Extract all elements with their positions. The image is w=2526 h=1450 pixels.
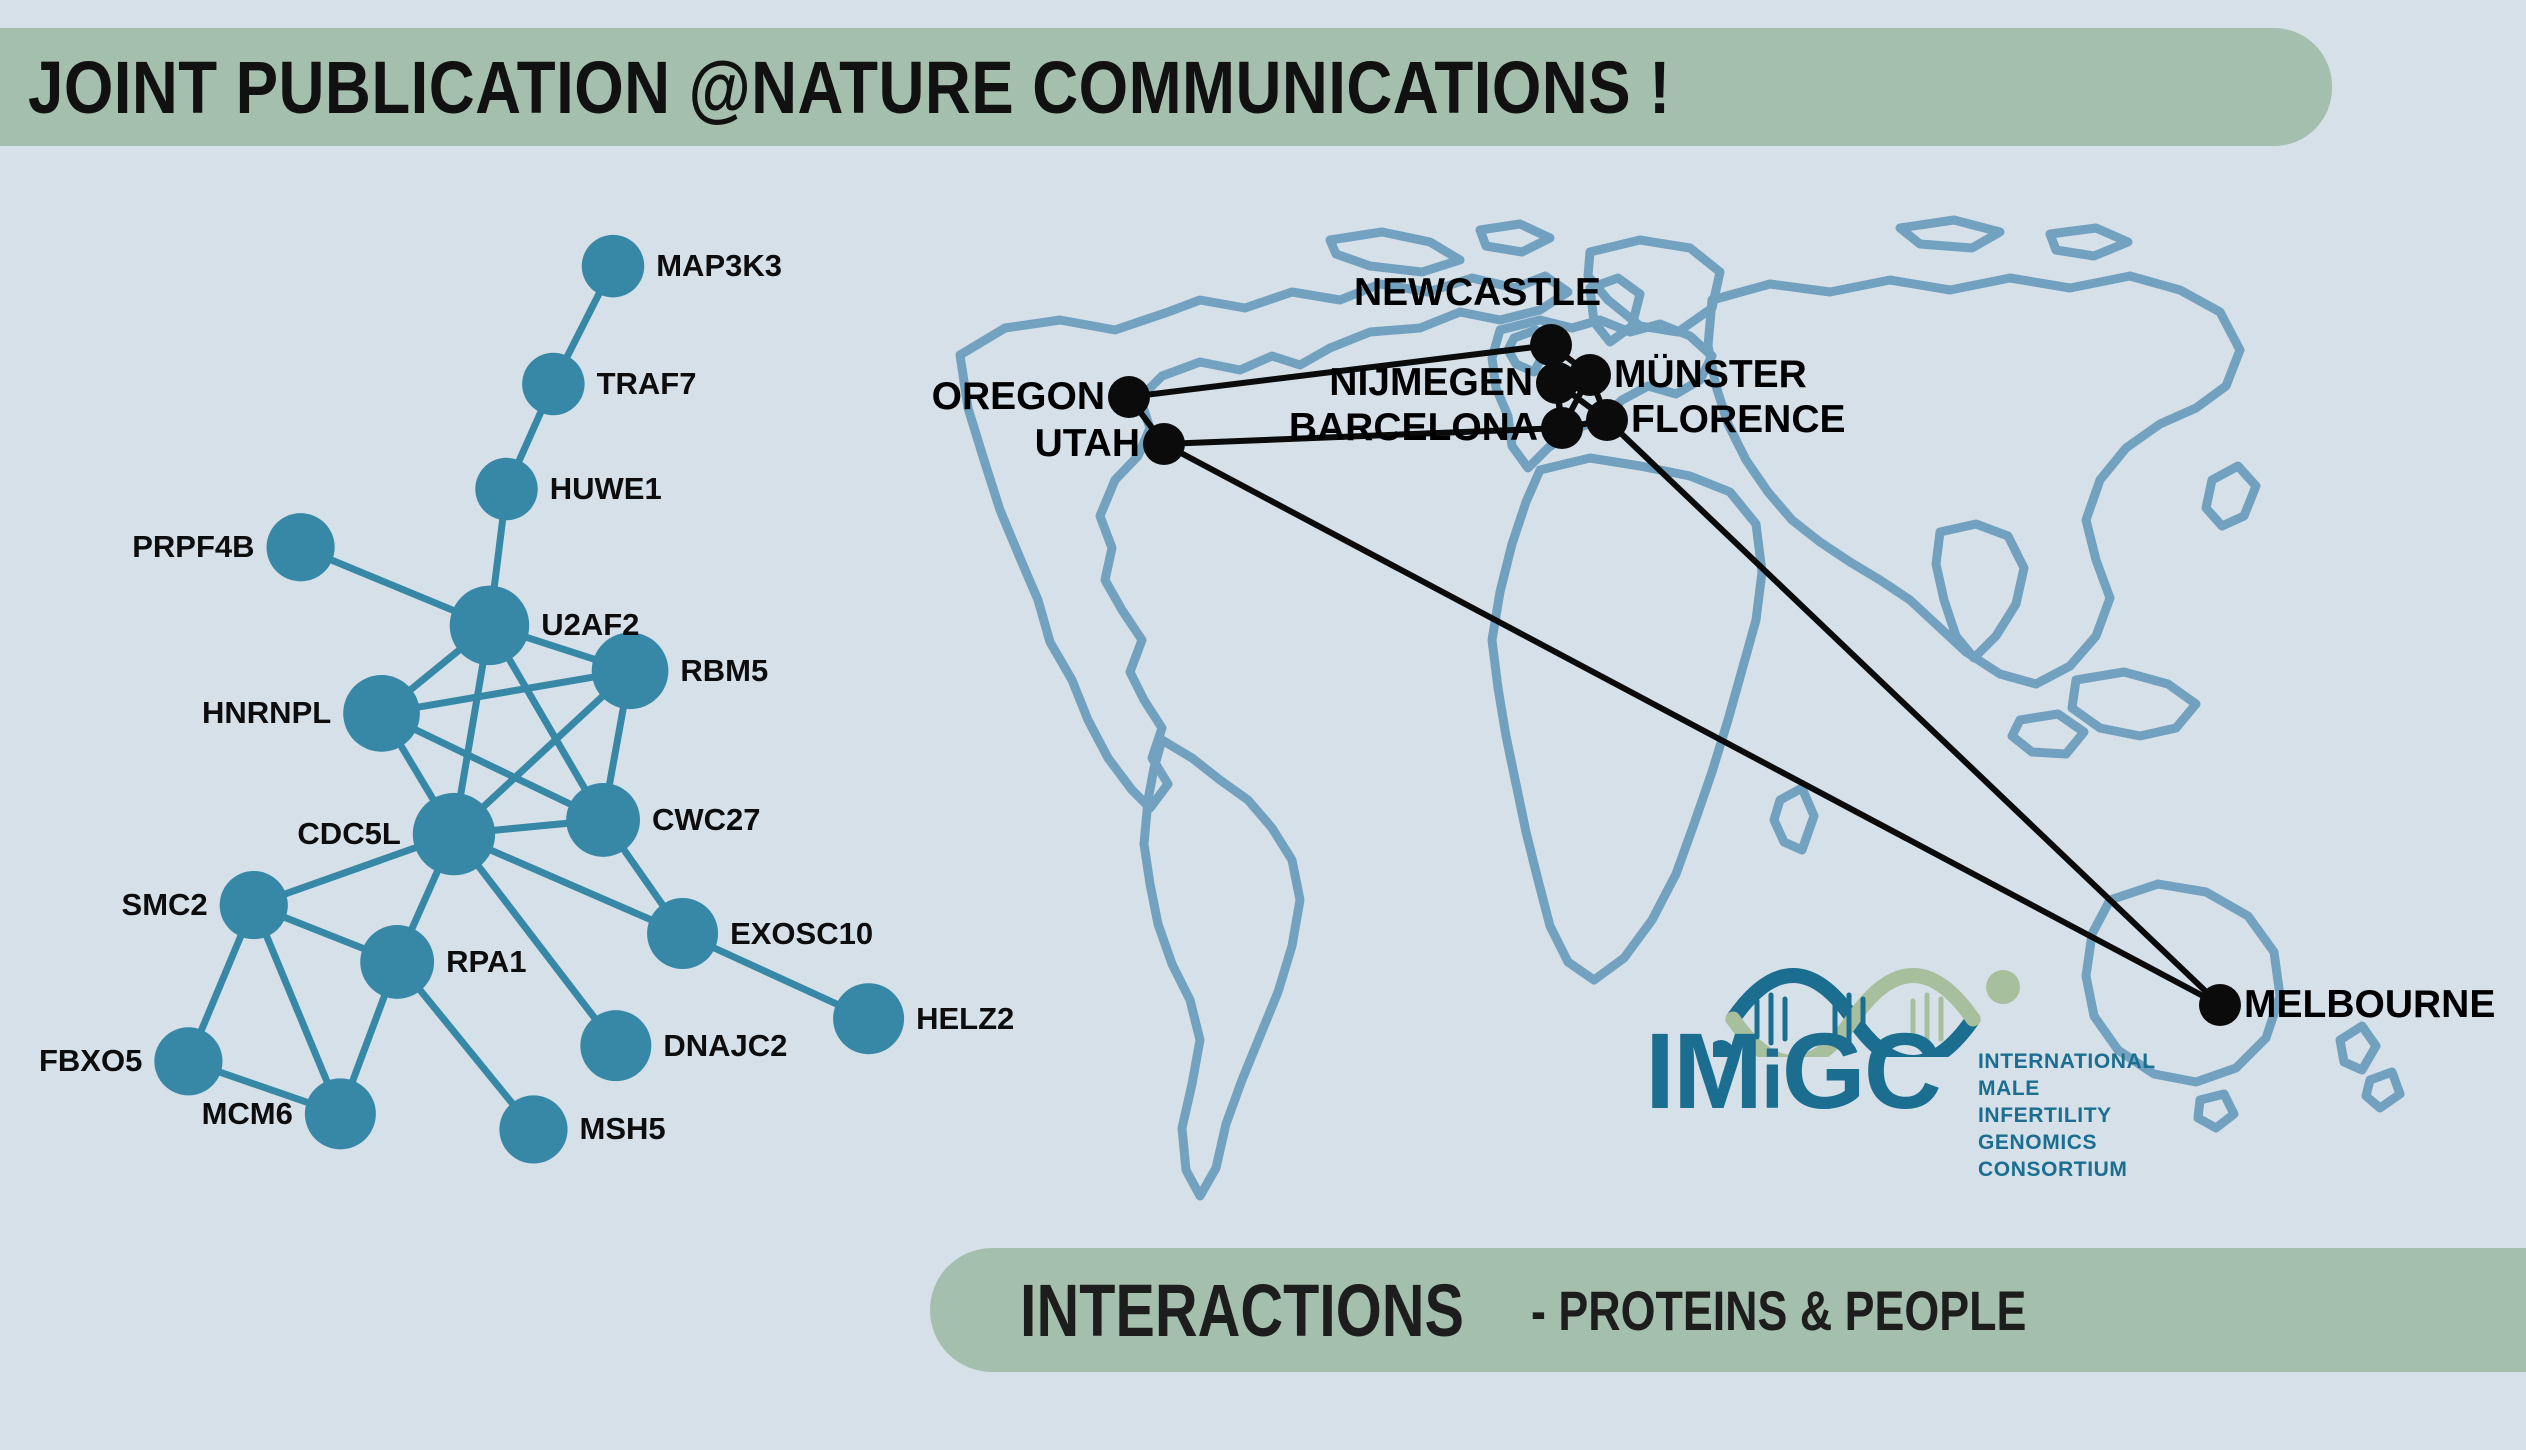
network-node-hnrnpl[interactable] — [343, 675, 420, 752]
network-node-dnajc2[interactable] — [580, 1010, 651, 1081]
protein-interaction-network: MAP3K3TRAF7HUWE1PRPF4BU2AF2RBM5HNRNPLCWC… — [0, 150, 960, 1445]
logo-tagline-line-3: GENOMICS — [1978, 1130, 2156, 1157]
network-node-fbxo5[interactable] — [154, 1027, 222, 1095]
poster-title: JOINT PUBLICATION @NATURE COMMUNICATIONS… — [28, 45, 1671, 130]
logo-wordmark-i: i — [1761, 1035, 1782, 1126]
city-dot-oregon[interactable] — [1108, 376, 1150, 418]
network-node-label-cwc27: CWC27 — [652, 802, 761, 838]
network-node-label-u2af2: U2AF2 — [541, 607, 639, 643]
logo-tagline-line-4: CONSORTIUM — [1978, 1157, 2156, 1184]
network-node-mcm6[interactable] — [305, 1078, 376, 1149]
network-node-msh5[interactable] — [499, 1095, 567, 1163]
logo-tagline-line-1: INTERNATIONAL — [1978, 1049, 2156, 1076]
city-label-newcastle: NEWCASTLE — [1354, 271, 1601, 315]
network-node-label-prpf4b: PRPF4B — [132, 529, 254, 565]
network-node-label-smc2: SMC2 — [122, 887, 208, 923]
city-label-oregon: OREGON — [932, 375, 1105, 419]
logo-wordmark-gc: GC — [1782, 1010, 1940, 1131]
map-route — [1607, 420, 2220, 1005]
city-dot-munster[interactable] — [1569, 354, 1611, 396]
city-dot-utah[interactable] — [1143, 423, 1185, 465]
city-label-utah: UTAH — [1035, 422, 1140, 466]
city-label-munster: MÜNSTER — [1614, 353, 1807, 397]
network-node-rpa1[interactable] — [360, 925, 434, 999]
network-node-label-huwe1: HUWE1 — [550, 471, 662, 507]
city-dot-melbourne[interactable] — [2199, 984, 2241, 1026]
network-node-label-msh5: MSH5 — [580, 1111, 666, 1147]
network-node-rbm5[interactable] — [592, 632, 669, 709]
network-node-label-traf7: TRAF7 — [597, 366, 697, 402]
network-node-traf7[interactable] — [522, 353, 584, 415]
network-node-label-rpa1: RPA1 — [446, 944, 526, 980]
bottom-banner-sub: - PROTEINS & PEOPLE — [1531, 1278, 2026, 1343]
network-node-label-exosc10: EXOSC10 — [730, 916, 873, 952]
city-dot-barcelona[interactable] — [1541, 407, 1583, 449]
network-node-label-dnajc2: DNAJC2 — [663, 1028, 787, 1064]
logo-wordmark-im: IM — [1645, 1010, 1761, 1131]
logo-tagline: INTERNATIONAL MALE INFERTILITY GENOMICS … — [1978, 1049, 2156, 1183]
bottom-banner: INTERACTIONS - PROTEINS & PEOPLE — [930, 1248, 2526, 1372]
network-node-huwe1[interactable] — [475, 458, 537, 520]
network-node-u2af2[interactable] — [450, 586, 530, 666]
map-route — [1164, 444, 2220, 1005]
logo-wordmark: IMiGC — [1645, 1017, 1940, 1125]
network-node-cwc27[interactable] — [566, 783, 640, 857]
city-label-nijmegen: NIJMEGEN — [1329, 361, 1533, 405]
bottom-banner-main: INTERACTIONS — [1020, 1268, 1464, 1353]
city-label-melbourne: MELBOURNE — [2244, 983, 2495, 1027]
city-label-barcelona: BARCELONA — [1289, 406, 1538, 450]
network-node-label-fbxo5: FBXO5 — [39, 1043, 142, 1079]
city-dot-newcastle[interactable] — [1530, 324, 1572, 366]
network-svg — [0, 150, 960, 1445]
network-node-exosc10[interactable] — [647, 898, 718, 969]
network-node-label-cdc5l: CDC5L — [297, 816, 400, 852]
network-node-smc2[interactable] — [220, 871, 288, 939]
network-node-label-hnrnpl: HNRNPL — [202, 695, 331, 731]
network-node-helz2[interactable] — [833, 983, 904, 1054]
city-dot-florence[interactable] — [1586, 399, 1628, 441]
logo-tagline-line-2: MALE INFERTILITY — [1978, 1076, 2156, 1130]
network-node-label-map3k3: MAP3K3 — [656, 248, 782, 284]
network-node-label-mcm6: MCM6 — [202, 1096, 293, 1132]
network-node-map3k3[interactable] — [582, 235, 644, 297]
poster-canvas: JOINT PUBLICATION @NATURE COMMUNICATIONS… — [0, 0, 2526, 1445]
top-banner: JOINT PUBLICATION @NATURE COMMUNICATIONS… — [0, 28, 2332, 146]
imigc-logo: IMiGC INTERNATIONAL MALE INFERTILITY GEN… — [1645, 965, 2145, 1145]
network-node-prpf4b[interactable] — [267, 513, 335, 581]
network-node-label-rbm5: RBM5 — [680, 653, 768, 689]
network-node-cdc5l[interactable] — [413, 793, 495, 875]
city-label-florence: FLORENCE — [1631, 398, 1846, 442]
